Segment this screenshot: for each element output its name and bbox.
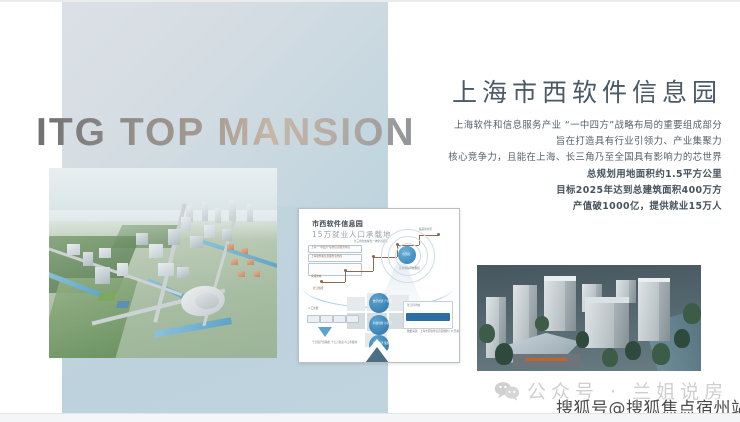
diagram-title: 市西软件信息园 [312,219,363,229]
wechat-icon [494,381,520,401]
diagram-subtitle: 15万就业人口承载地 [312,229,392,240]
tree [602,348,618,367]
diagram-route-node [320,280,323,283]
diagram-funnel-tag [346,315,359,323]
aerial-sports-field [98,293,116,301]
aerial-residential-roof [231,259,238,265]
diagram-funnel-caption: 千亿级产值输出 十五万就业人口承载地 [312,341,357,345]
description-line-2: 旨在打造具有行业引领力、产业集聚力 [392,134,722,150]
diagram-program-label: 数字经济 产业园 [373,300,392,304]
bottom-strip [0,413,740,422]
aerial-building [67,244,80,255]
page-title-chinese: 上海市西软件信息园 [452,73,722,109]
aerial-residential-roof [227,244,234,250]
aerial-building [204,225,215,238]
aerial-building [136,233,148,245]
description-line-5: 目标2025年达到总建筑面积400万方 [392,183,722,199]
diagram-map-label: 青浦新城 [311,275,321,279]
aerial-distant-tower [247,204,253,222]
aerial-building [99,248,111,258]
aerial-rendering-photo [49,168,277,358]
diagram-info-text: 张江科学城 [407,304,420,308]
tree [495,343,513,364]
aerial-building [190,236,203,248]
diagram-route-segment [345,271,346,282]
diagram-route-segment [373,257,374,271]
tree [683,303,701,324]
tree [674,329,690,348]
diagram-funnel-tag [333,315,346,323]
description-line-4: 总规划用地面积约1.5平方公里 [392,167,722,183]
diagram-route-node [372,255,375,258]
diagram-funnel-tag [320,315,333,323]
tree [535,316,548,331]
aerial-building [149,244,163,258]
aerial-building [83,252,93,266]
building-roof [544,276,575,281]
building-roof [585,297,630,303]
building-midrise [585,301,630,348]
diagram-arrow-up-icon [365,347,389,363]
page-title-english: ITG TOP MANSION [36,110,416,156]
diagram-program-label: 科技创新 示范区 [373,322,392,326]
slide-canvas: ITG TOP MANSION 上海市西软件信息园 上海软件和信息服务产业 “一… [0,0,740,422]
diagram-legend-label: 上海软件和信息服务业布局 [311,255,342,259]
aerial-pool [116,301,130,308]
diagram-hub-label: 市西园 [402,253,410,257]
aerial-residential-roof [238,271,245,277]
description-line-3: 核心竞争力，且能在上海、长三角乃至全国具有影响力的芯世界 [392,150,722,166]
diagram-info-highlight [406,313,450,321]
diagram-funnel-shape [318,327,332,337]
aerial-building [181,217,191,231]
tree [576,331,589,348]
diagram-funnel-tag [307,315,320,323]
aerial-building [222,229,232,241]
tree [652,343,670,364]
tree [479,324,495,343]
diagram-city-block [347,297,365,311]
diagram-map-label: 松江枢纽 [313,287,323,291]
diagram-note-text: 数据来源：上海市西软件信息园规划 / 公开资料整理 [407,330,460,334]
description-line-1: 上海软件和信息服务产业 “一中四方”战略布局的重要组成部分 [392,118,722,134]
aerial-distant-tower [215,208,221,223]
aerial-building [117,263,128,276]
diagram-legend-label: 上海“一中四方”软件信息服务布局 [311,246,350,250]
diagram-route-node [437,233,440,236]
aerial-building [177,267,189,278]
aerial-residential-roof [254,271,260,277]
diagram-funnel-heading: 人工智能 [308,307,318,311]
aerial-residential-roof [247,259,254,265]
diagram-route-segment [321,282,345,283]
information-park-diagram-card: 市西软件信息园 15万就业人口承载地 上海“一中四方”软件信息服务布局 上海软件… [298,208,460,363]
aerial-building [168,229,180,245]
aerial-building [95,267,110,284]
aerial-residential-roof [241,248,248,254]
aerial-building [158,263,174,276]
diagram-route-node [344,269,347,272]
description-block: 上海软件和信息服务产业 “一中四方”战略布局的重要组成部分 旨在打造具有行业引领… [392,118,722,215]
diagram-route-segment [345,271,373,272]
building-accent-band [526,358,566,361]
office-building-rendering-photo [477,265,701,371]
tree [625,341,641,360]
aerial-distant-tower [202,202,208,221]
building-tower [544,278,575,331]
top-hairline [0,0,740,2]
building-roof [638,278,669,282]
building-tower [638,280,669,341]
